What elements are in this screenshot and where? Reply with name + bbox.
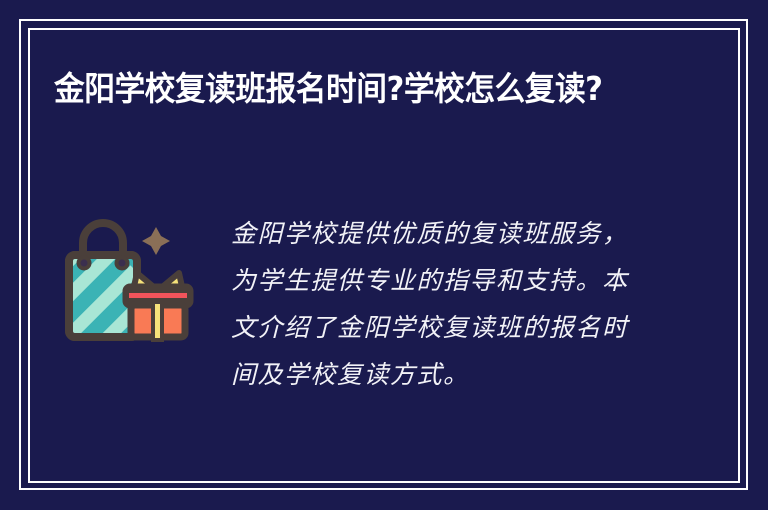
sparkle-icon (142, 227, 170, 255)
shopping-bag-and-gift-illustration (55, 215, 205, 345)
poster-canvas: 金阳学校复读班报名时间?学校怎么复读? (0, 0, 768, 510)
body-paragraph: 金阳学校提供优质的复读班服务，为学生提供专业的指导和支持。本文介绍了金阳学校复读… (231, 210, 649, 398)
page-title: 金阳学校复读班报名时间?学校怎么复读? (54, 62, 649, 116)
